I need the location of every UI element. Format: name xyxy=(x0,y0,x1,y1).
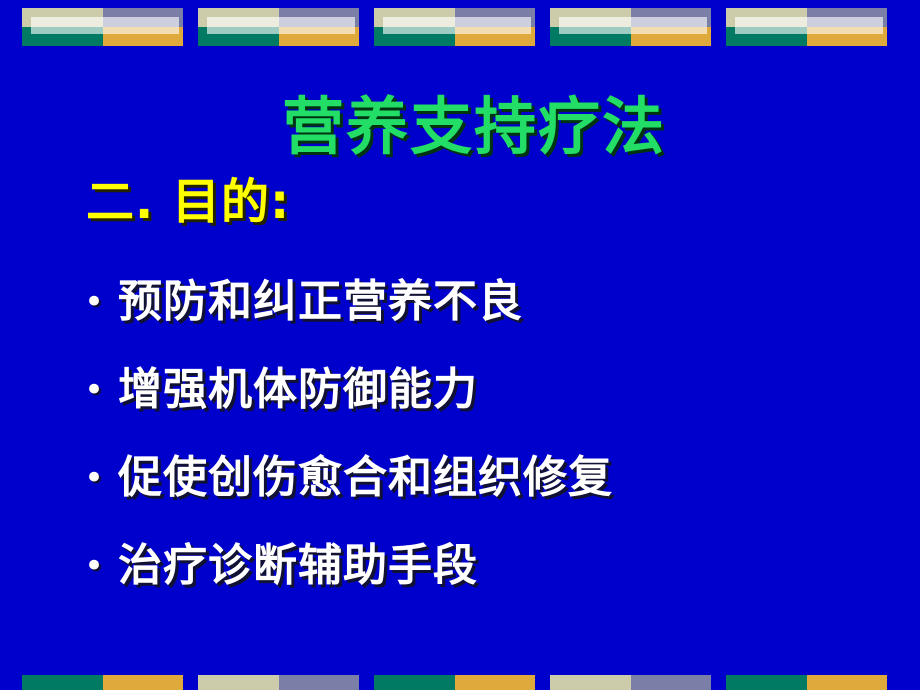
decorative-block xyxy=(550,675,711,690)
slide-subtitle: 二. 目的: xyxy=(86,178,290,226)
top-decorative-band xyxy=(0,8,920,46)
block-quadrant-bottom-right xyxy=(103,675,184,690)
slide-canvas: 营养支持疗法 二. 目的: • 预防和纠正营养不良 • 增强机体防御能力 • 促… xyxy=(0,0,920,690)
list-item: • 促使创伤愈合和组织修复 xyxy=(82,434,862,522)
slide-title: 营养支持疗法 xyxy=(282,96,666,158)
list-item: • 治疗诊断辅助手段 xyxy=(82,522,862,610)
block-quadrant-bottom-left xyxy=(726,675,807,690)
bullet-point-icon: • xyxy=(82,285,118,319)
list-item-label: 增强机体防御能力 xyxy=(118,368,478,412)
decorative-block xyxy=(198,8,359,46)
block-highlight-band xyxy=(735,17,883,34)
block-quadrant-bottom-left xyxy=(198,675,279,690)
decorative-block xyxy=(198,675,359,690)
bullet-point-icon: • xyxy=(82,461,118,495)
decorative-block xyxy=(550,8,711,46)
decorative-block xyxy=(374,675,535,690)
bullet-point-icon: • xyxy=(82,549,118,583)
list-item-label: 治疗诊断辅助手段 xyxy=(118,544,478,588)
decorative-block xyxy=(726,675,887,690)
block-highlight-band xyxy=(383,17,531,34)
bullet-list: • 预防和纠正营养不良 • 增强机体防御能力 • 促使创伤愈合和组织修复 • 治… xyxy=(82,258,862,610)
list-item-label: 预防和纠正营养不良 xyxy=(118,280,523,324)
list-item: • 预防和纠正营养不良 xyxy=(82,258,862,346)
decorative-block xyxy=(726,8,887,46)
bullet-point-icon: • xyxy=(82,373,118,407)
decorative-block xyxy=(22,8,183,46)
block-highlight-band xyxy=(207,17,355,34)
block-quadrant-bottom-right xyxy=(631,675,712,690)
decorative-block xyxy=(22,675,183,690)
block-quadrant-bottom-left xyxy=(22,675,103,690)
bottom-decorative-band xyxy=(0,675,920,690)
block-highlight-band xyxy=(559,17,707,34)
list-item-label: 促使创伤愈合和组织修复 xyxy=(118,456,613,500)
block-quadrant-bottom-right xyxy=(279,675,360,690)
block-highlight-band xyxy=(31,17,179,34)
block-quadrant-bottom-left xyxy=(550,675,631,690)
block-quadrant-bottom-right xyxy=(807,675,888,690)
list-item: • 增强机体防御能力 xyxy=(82,346,862,434)
decorative-block xyxy=(374,8,535,46)
block-quadrant-bottom-right xyxy=(455,675,536,690)
block-quadrant-bottom-left xyxy=(374,675,455,690)
